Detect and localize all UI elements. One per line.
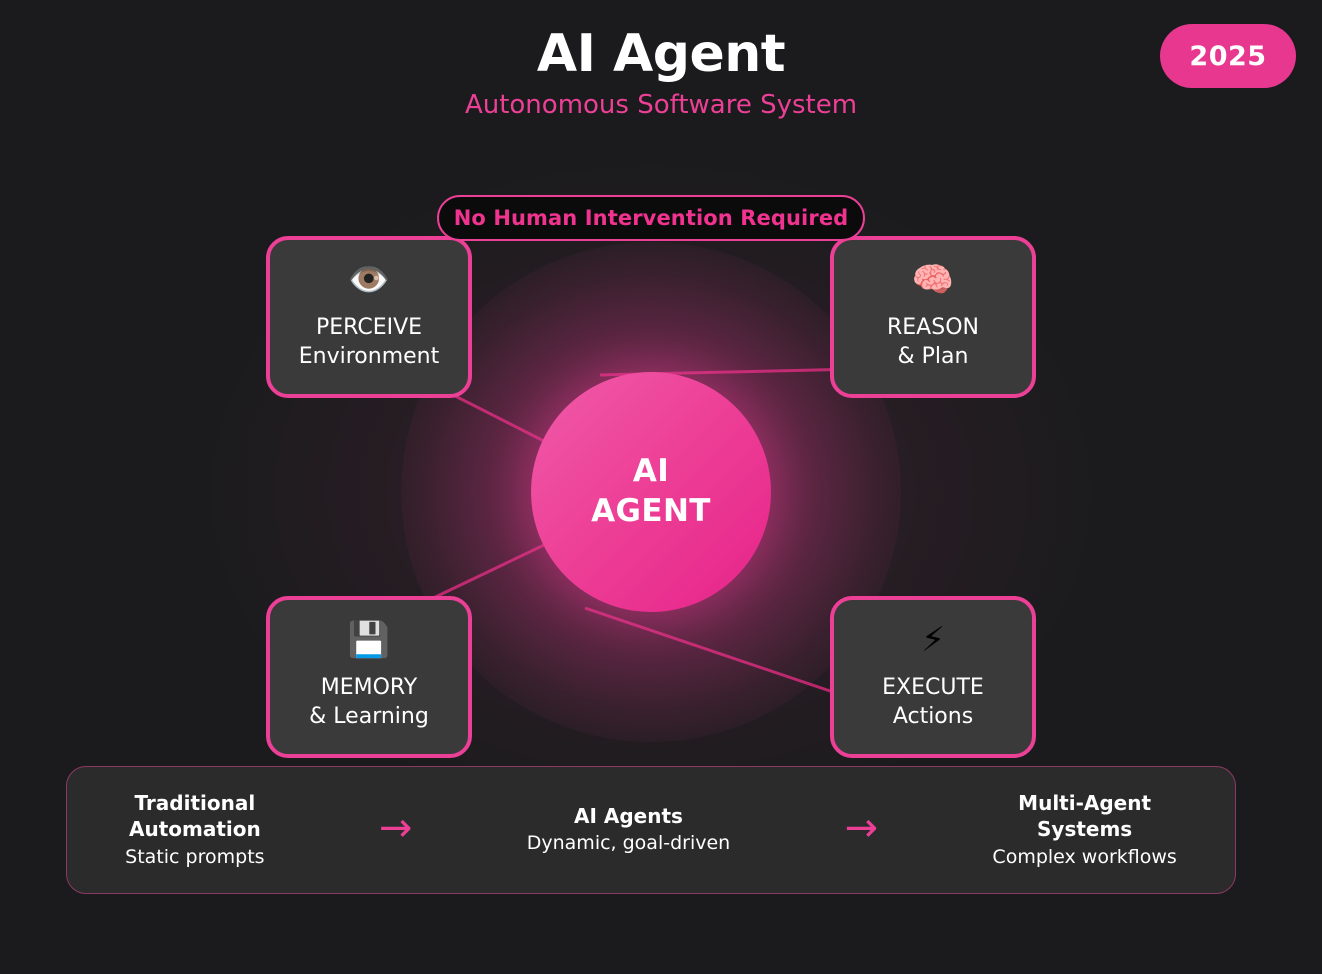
capability-card-title: EXECUTE [882, 673, 984, 702]
capability-card-subtitle: Environment [299, 342, 439, 371]
lightning-bolt-icon: ⚡ [921, 623, 945, 657]
arrow-right-icon: → [841, 808, 883, 848]
capability-card-title: PERCEIVE [316, 313, 422, 342]
evolution-stage-name: AI Agents [527, 803, 730, 830]
page-subtitle: Autonomous Software System [0, 91, 1322, 120]
evolution-stage-desc: Complex workflows [992, 845, 1176, 871]
evolution-stage-desc: Static prompts [125, 845, 264, 871]
evolution-stage-name: Multi-Agent Systems [992, 790, 1176, 843]
capability-card-subtitle: & Plan [898, 342, 969, 371]
brain-icon: 🧠 [912, 263, 954, 297]
capability-card-memory[interactable]: 💾 MEMORY & Learning [266, 596, 472, 758]
evolution-stage-name: Traditional Automation [125, 790, 264, 843]
center-node-line1: AI [633, 452, 669, 492]
capability-card-title: REASON [887, 313, 979, 342]
page-header: AI Agent Autonomous Software System [0, 26, 1322, 120]
capability-card-perceive[interactable]: 👁️ PERCEIVE Environment [266, 236, 472, 398]
evolution-timeline: Traditional Automation Static prompts → … [66, 766, 1236, 894]
evolution-stage-ai-agents: AI Agents Dynamic, goal-driven [521, 803, 736, 857]
center-node-ai-agent: AI AGENT [531, 372, 771, 612]
evolution-stage-desc: Dynamic, goal-driven [527, 831, 730, 857]
capability-card-subtitle: & Learning [309, 702, 429, 731]
capability-card-reason[interactable]: 🧠 REASON & Plan [830, 236, 1036, 398]
eye-icon: 👁️ [348, 263, 390, 297]
diagram-canvas: AI Agent Autonomous Software System 2025… [0, 0, 1322, 974]
year-badge: 2025 [1160, 24, 1296, 88]
capability-card-execute[interactable]: ⚡ EXECUTE Actions [830, 596, 1036, 758]
center-node-line2: AGENT [591, 492, 711, 532]
floppy-disk-icon: 💾 [348, 623, 390, 657]
arrow-right-icon: → [375, 808, 417, 848]
capability-card-subtitle: Actions [893, 702, 973, 731]
evolution-stage-traditional-automation: Traditional Automation Static prompts [119, 790, 270, 871]
capability-card-title: MEMORY [321, 673, 418, 702]
no-human-intervention-banner: No Human Intervention Required [437, 195, 865, 241]
evolution-stage-multi-agent-systems: Multi-Agent Systems Complex workflows [986, 790, 1182, 871]
page-title: AI Agent [0, 26, 1322, 82]
